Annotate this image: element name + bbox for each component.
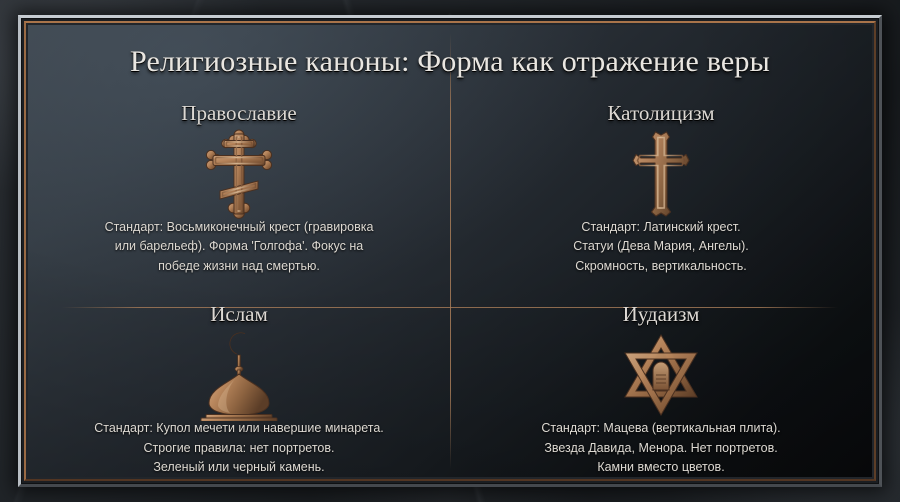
body-line: Стандарт: Мацева (вертикальная плита).	[541, 419, 780, 438]
orthodox-cross-icon	[200, 130, 278, 218]
quadrant-body-catholicism: Стандарт: Латинский крест. Статуи (Дева …	[573, 218, 749, 276]
body-line: Зеленый или черный камень.	[94, 458, 384, 477]
quadrant-grid: Православие	[28, 91, 872, 469]
plaque-surface: Религиозные каноны: Форма как отражение …	[28, 25, 872, 477]
body-line: Стандарт: Латинский крест.	[573, 218, 749, 237]
quadrant-islam: Ислам	[28, 292, 450, 477]
star-of-david-matzeva-icon	[615, 331, 707, 419]
latin-cross-icon	[628, 130, 694, 218]
plaque-copper-frame: Религиозные каноны: Форма как отражение …	[24, 21, 876, 481]
body-line: Стандарт: Восьмиконечный крест (гравиров…	[105, 218, 374, 237]
poster-canvas: Религиозные каноны: Форма как отражение …	[0, 0, 900, 502]
quadrant-catholicism: Католицизм	[450, 91, 872, 292]
body-line: Статуи (Дева Мария, Ангелы).	[573, 237, 749, 256]
quadrant-heading-catholicism: Католицизм	[607, 101, 714, 126]
quadrant-orthodoxy: Православие	[28, 91, 450, 292]
quadrant-judaism: Иудаизм	[450, 292, 872, 477]
body-line: Скромность, вертикальность.	[573, 257, 749, 276]
body-line: победе жизни над смертью.	[105, 257, 374, 276]
body-line: Звезда Давида, Менора. Нет портретов.	[541, 439, 780, 458]
body-line: Стандарт: Купол мечети или навершие мина…	[94, 419, 384, 438]
quadrant-body-orthodoxy: Стандарт: Восьмиконечный крест (гравиров…	[105, 218, 374, 276]
quadrant-heading-judaism: Иудаизм	[623, 302, 700, 327]
quadrant-heading-orthodoxy: Православие	[181, 101, 296, 126]
body-line: Камни вместо цветов.	[541, 458, 780, 477]
mosque-dome-crescent-icon	[191, 331, 287, 419]
page-title: Религиозные каноны: Форма как отражение …	[28, 45, 872, 78]
quadrant-body-judaism: Стандарт: Мацева (вертикальная плита). З…	[541, 419, 780, 477]
body-line: или барельеф). Форма 'Голгофа'. Фокус на	[105, 237, 374, 256]
plaque-outer-frame: Религиозные каноны: Форма как отражение …	[18, 15, 882, 487]
quadrant-body-islam: Стандарт: Купол мечети или навершие мина…	[94, 419, 384, 477]
quadrant-heading-islam: Ислам	[210, 302, 268, 327]
body-line: Строгие правила: нет портретов.	[94, 439, 384, 458]
